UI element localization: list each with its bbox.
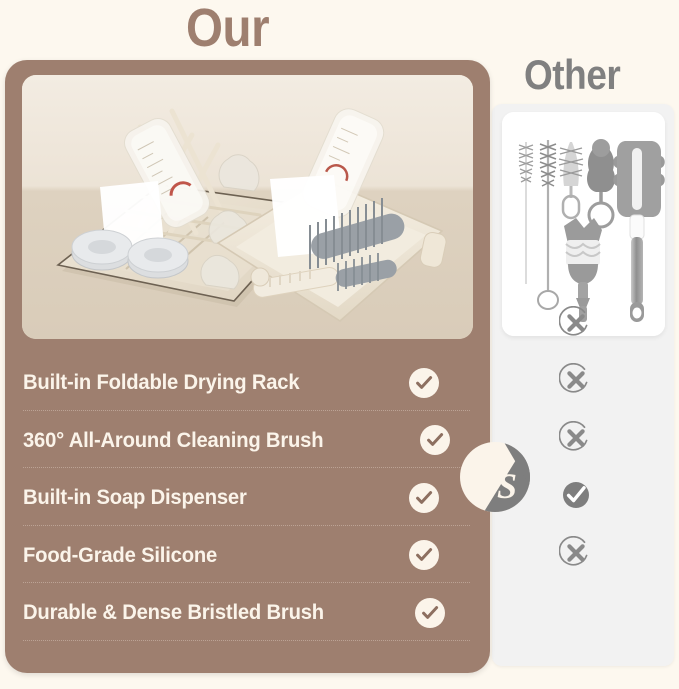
check-circle-filled-icon (559, 478, 593, 512)
feature-row: 360° All-Around Cleaning Brush (5, 412, 490, 470)
cross-circle-icon (559, 363, 593, 397)
feature-row: Built-in Soap Dispenser (5, 469, 490, 527)
feature-label: Built-in Foldable Drying Rack (23, 370, 299, 395)
cross-circle-icon (559, 421, 593, 455)
other-status-row (492, 352, 674, 410)
feature-list: Built-in Foldable Drying Rack 360° All-A… (5, 354, 490, 642)
check-circle-icon (415, 598, 445, 628)
feature-label: Durable & Dense Bristled Brush (23, 600, 324, 625)
row-divider (23, 640, 470, 642)
check-circle-icon (409, 483, 439, 513)
feature-label: Built-in Soap Dispenser (23, 485, 247, 510)
cross-circle-icon (559, 536, 593, 570)
check-circle-icon (420, 425, 450, 455)
our-header: Our (186, 0, 269, 59)
vs-badge: V S (458, 440, 532, 514)
cross-circle-icon (559, 306, 593, 340)
feature-row: Built-in Foldable Drying Rack (5, 354, 490, 412)
feature-label: 360° All-Around Cleaning Brush (23, 428, 323, 453)
vs-letter-s: S (497, 466, 517, 506)
comparison-infographic: Our Other (0, 0, 679, 689)
feature-row: Durable & Dense Bristled Brush (5, 584, 490, 642)
other-status-row (492, 524, 674, 582)
check-circle-icon (409, 540, 439, 570)
check-circle-icon (409, 368, 439, 398)
our-product-photo (22, 75, 473, 339)
feature-row: Food-Grade Silicone (5, 527, 490, 585)
other-status-row (492, 294, 674, 352)
feature-label: Food-Grade Silicone (23, 543, 217, 568)
vs-letter-v: V (468, 456, 499, 502)
other-status-column (492, 294, 674, 582)
other-header: Other (524, 51, 620, 99)
our-panel: Built-in Foldable Drying Rack 360° All-A… (5, 60, 490, 673)
drying-rack-illustration (22, 75, 473, 339)
